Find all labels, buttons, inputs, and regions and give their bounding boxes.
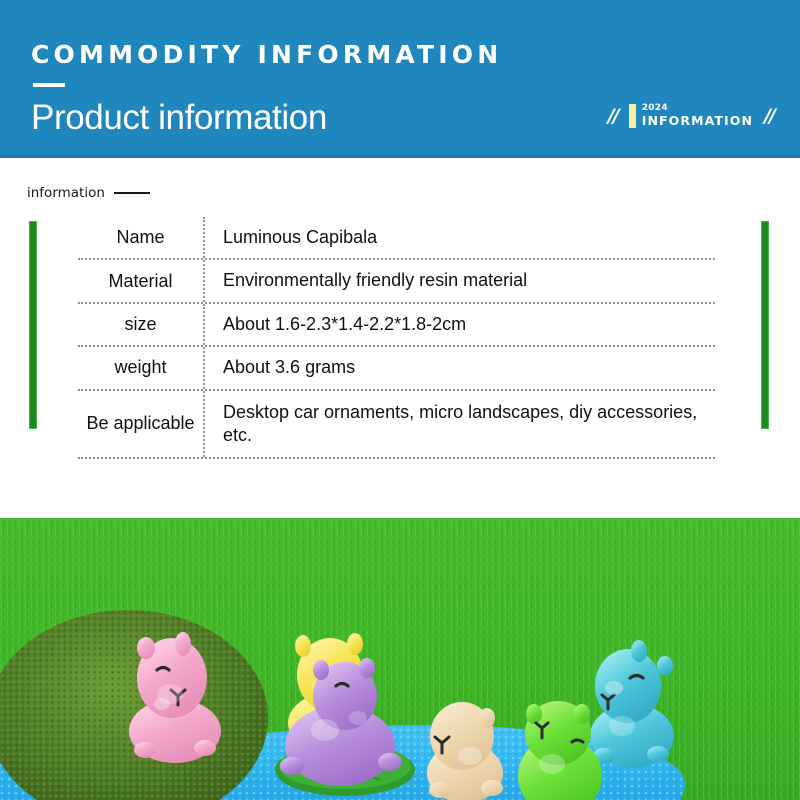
section-label-text: information bbox=[27, 185, 105, 201]
double-slash-icon-right: // bbox=[764, 107, 774, 126]
table-cell-key: size bbox=[78, 304, 205, 345]
specification-table: Name Luminous Capibala Material Environm… bbox=[78, 217, 715, 459]
product-photo-scene bbox=[0, 518, 800, 800]
double-slash-icon-left: // bbox=[608, 107, 618, 126]
table-row: Name Luminous Capibala bbox=[78, 217, 715, 260]
green-accent-bar-left bbox=[29, 221, 37, 429]
table-row: Material Environmentally friendly resin … bbox=[78, 260, 715, 303]
product-photo bbox=[0, 518, 800, 800]
table-cell-value: Luminous Capibala bbox=[205, 217, 715, 258]
green-accent-bar-right bbox=[761, 221, 769, 429]
badge-bar-icon bbox=[629, 104, 636, 128]
table-cell-value: About 3.6 grams bbox=[205, 347, 715, 388]
section-label-rule bbox=[114, 192, 150, 194]
page-title: Product information bbox=[31, 98, 327, 138]
badge-label: INFORMATION bbox=[642, 115, 753, 128]
table-cell-key: Material bbox=[78, 260, 205, 301]
table-cell-value: About 1.6-2.3*1.4-2.2*1.8-2cm bbox=[205, 304, 715, 345]
table-row: Be applicable Desktop car ornaments, mic… bbox=[78, 391, 715, 460]
header-decoration: // 2024 INFORMATION // bbox=[608, 104, 774, 128]
badge-year: 2024 bbox=[642, 104, 753, 113]
page-header: COMMODITY INFORMATION Product informatio… bbox=[0, 0, 800, 158]
badge-text: 2024 INFORMATION bbox=[642, 104, 753, 128]
table-cell-value: Desktop car ornaments, micro landscapes,… bbox=[205, 391, 715, 458]
table-row: size About 1.6-2.3*1.4-2.2*1.8-2cm bbox=[78, 304, 715, 347]
section-label: information bbox=[27, 185, 150, 201]
product-information-page: COMMODITY INFORMATION Product informatio… bbox=[0, 0, 800, 800]
table-cell-key: Name bbox=[78, 217, 205, 258]
header-badge: 2024 INFORMATION bbox=[629, 104, 753, 128]
table-cell-key: Be applicable bbox=[78, 391, 205, 458]
table-cell-value: Environmentally friendly resin material bbox=[205, 260, 715, 301]
table-row: weight About 3.6 grams bbox=[78, 347, 715, 390]
header-kicker-rule bbox=[33, 83, 65, 87]
header-kicker: COMMODITY INFORMATION bbox=[31, 40, 502, 69]
header-bottom-strip bbox=[0, 154, 800, 158]
table-cell-key: weight bbox=[78, 347, 205, 388]
green-capybara bbox=[518, 701, 602, 800]
